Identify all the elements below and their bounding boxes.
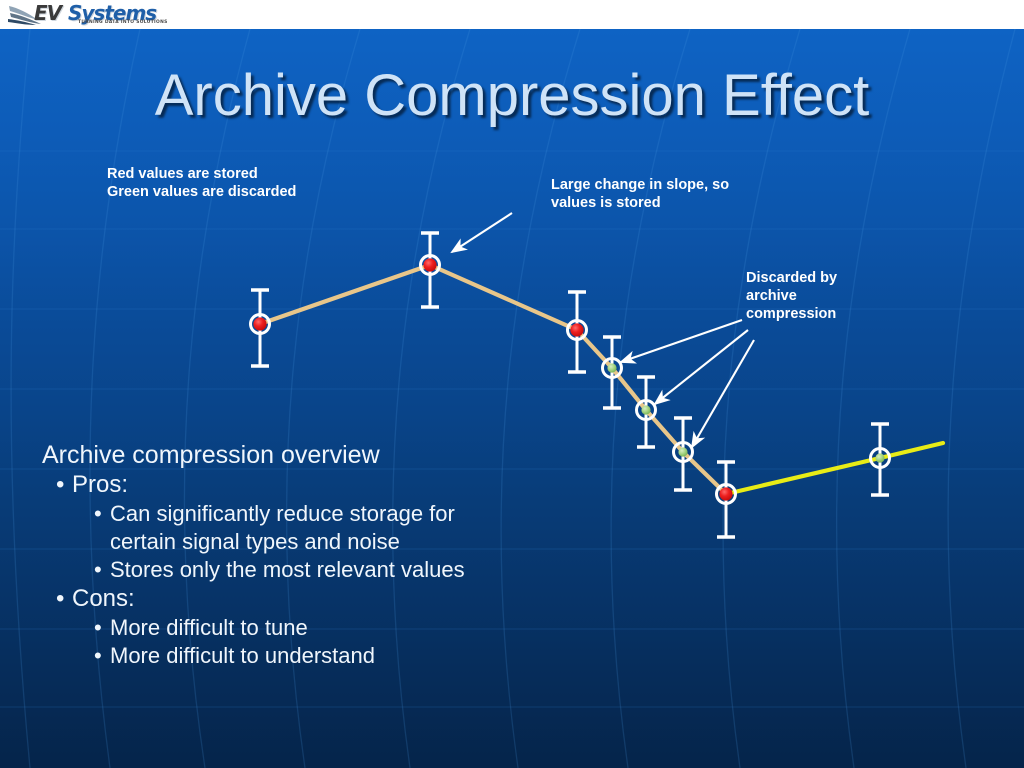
bullet-pros-label: Pros: [72,471,128,498]
bullet-pros-item-2: •Stores only the most relevant values [94,556,642,584]
bullet-cons-item-1-label: More difficult to tune [110,615,308,640]
bullet-cons-label: Cons: [72,585,135,612]
bullet-glyph: • [56,584,72,614]
bullet-glyph: • [94,642,110,670]
page-title: Archive Compression Effect [0,62,1024,129]
bullet-glyph: • [94,500,110,528]
bullet-cons-item-2-label: More difficult to understand [110,643,375,668]
bullet-cons: •Cons: [56,584,642,614]
callout-discarded-text: Discarded by archive compression [746,269,837,323]
callout-legend-text: Red values are stored Green values are d… [107,165,296,201]
bullet-pros-item-2-label: Stores only the most relevant values [110,557,465,582]
logo-tagline: TURNING DATA INTO SOLUTIONS [78,20,168,25]
company-logo: EV Systems TURNING DATA INTO SOLUTIONS [8,0,168,29]
bullet-pros-item-1-line-2: certain signal types and noise [110,528,642,556]
bullet-cons-item-2: •More difficult to understand [94,642,642,670]
callout-slope-text: Large change in slope, so values is stor… [551,176,729,212]
body-heading: Archive compression overview [42,440,642,470]
bullet-glyph: • [56,470,72,500]
bullet-glyph: • [94,614,110,642]
body-text-block: Archive compression overview •Pros: •Can… [42,440,642,670]
logo-bar: EV Systems TURNING DATA INTO SOLUTIONS [0,0,1024,29]
slide-canvas: EV Systems TURNING DATA INTO SOLUTIONS [0,0,1024,768]
bullet-pros-item-1: •Can significantly reduce storage for ce… [94,500,642,556]
logo-text-ev: EV [34,1,61,25]
bullet-glyph: • [94,556,110,584]
bullet-pros: •Pros: [56,470,642,500]
bullet-cons-item-1: •More difficult to tune [94,614,642,642]
bullet-pros-item-1-line-1: Can significantly reduce storage for [110,501,455,526]
